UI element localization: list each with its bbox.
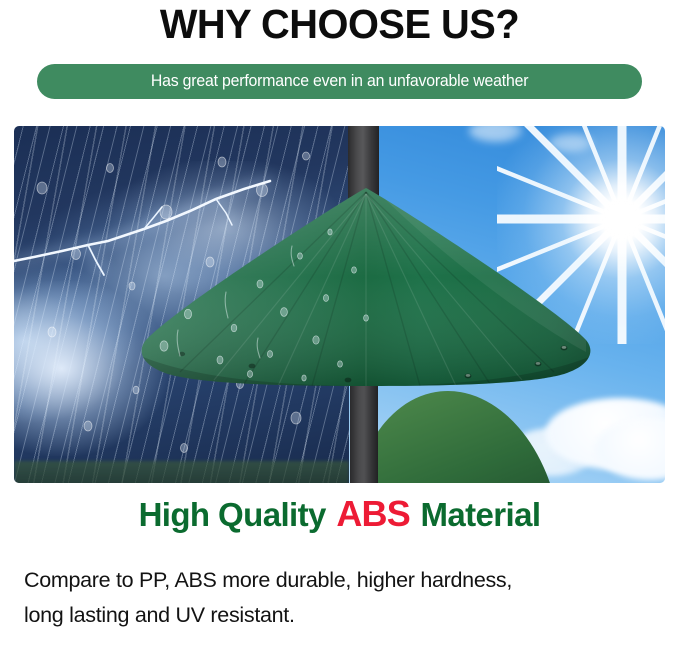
description-line-2: long lasting and UV resistant. [24, 598, 664, 633]
feature-headline-part2: Material [421, 496, 541, 533]
page-title: WHY CHOOSE US? [10, 1, 669, 47]
description-text: Compare to PP, ABS more durable, higher … [24, 563, 664, 633]
feature-banner: Has great performance even in an unfavor… [37, 64, 642, 99]
abs-cone-product [134, 188, 599, 386]
feature-headline: High Quality ABS Material [0, 494, 679, 535]
feature-banner-label: Has great performance even in an unfavor… [151, 72, 528, 91]
feature-headline-part1: High Quality [139, 496, 326, 533]
cone-layer [14, 126, 665, 483]
product-photo [14, 126, 665, 483]
feature-headline-highlight: ABS [334, 493, 412, 534]
infographic-page: WHY CHOOSE US? Has great performance eve… [0, 0, 679, 646]
description-line-1: Compare to PP, ABS more durable, higher … [24, 563, 664, 598]
